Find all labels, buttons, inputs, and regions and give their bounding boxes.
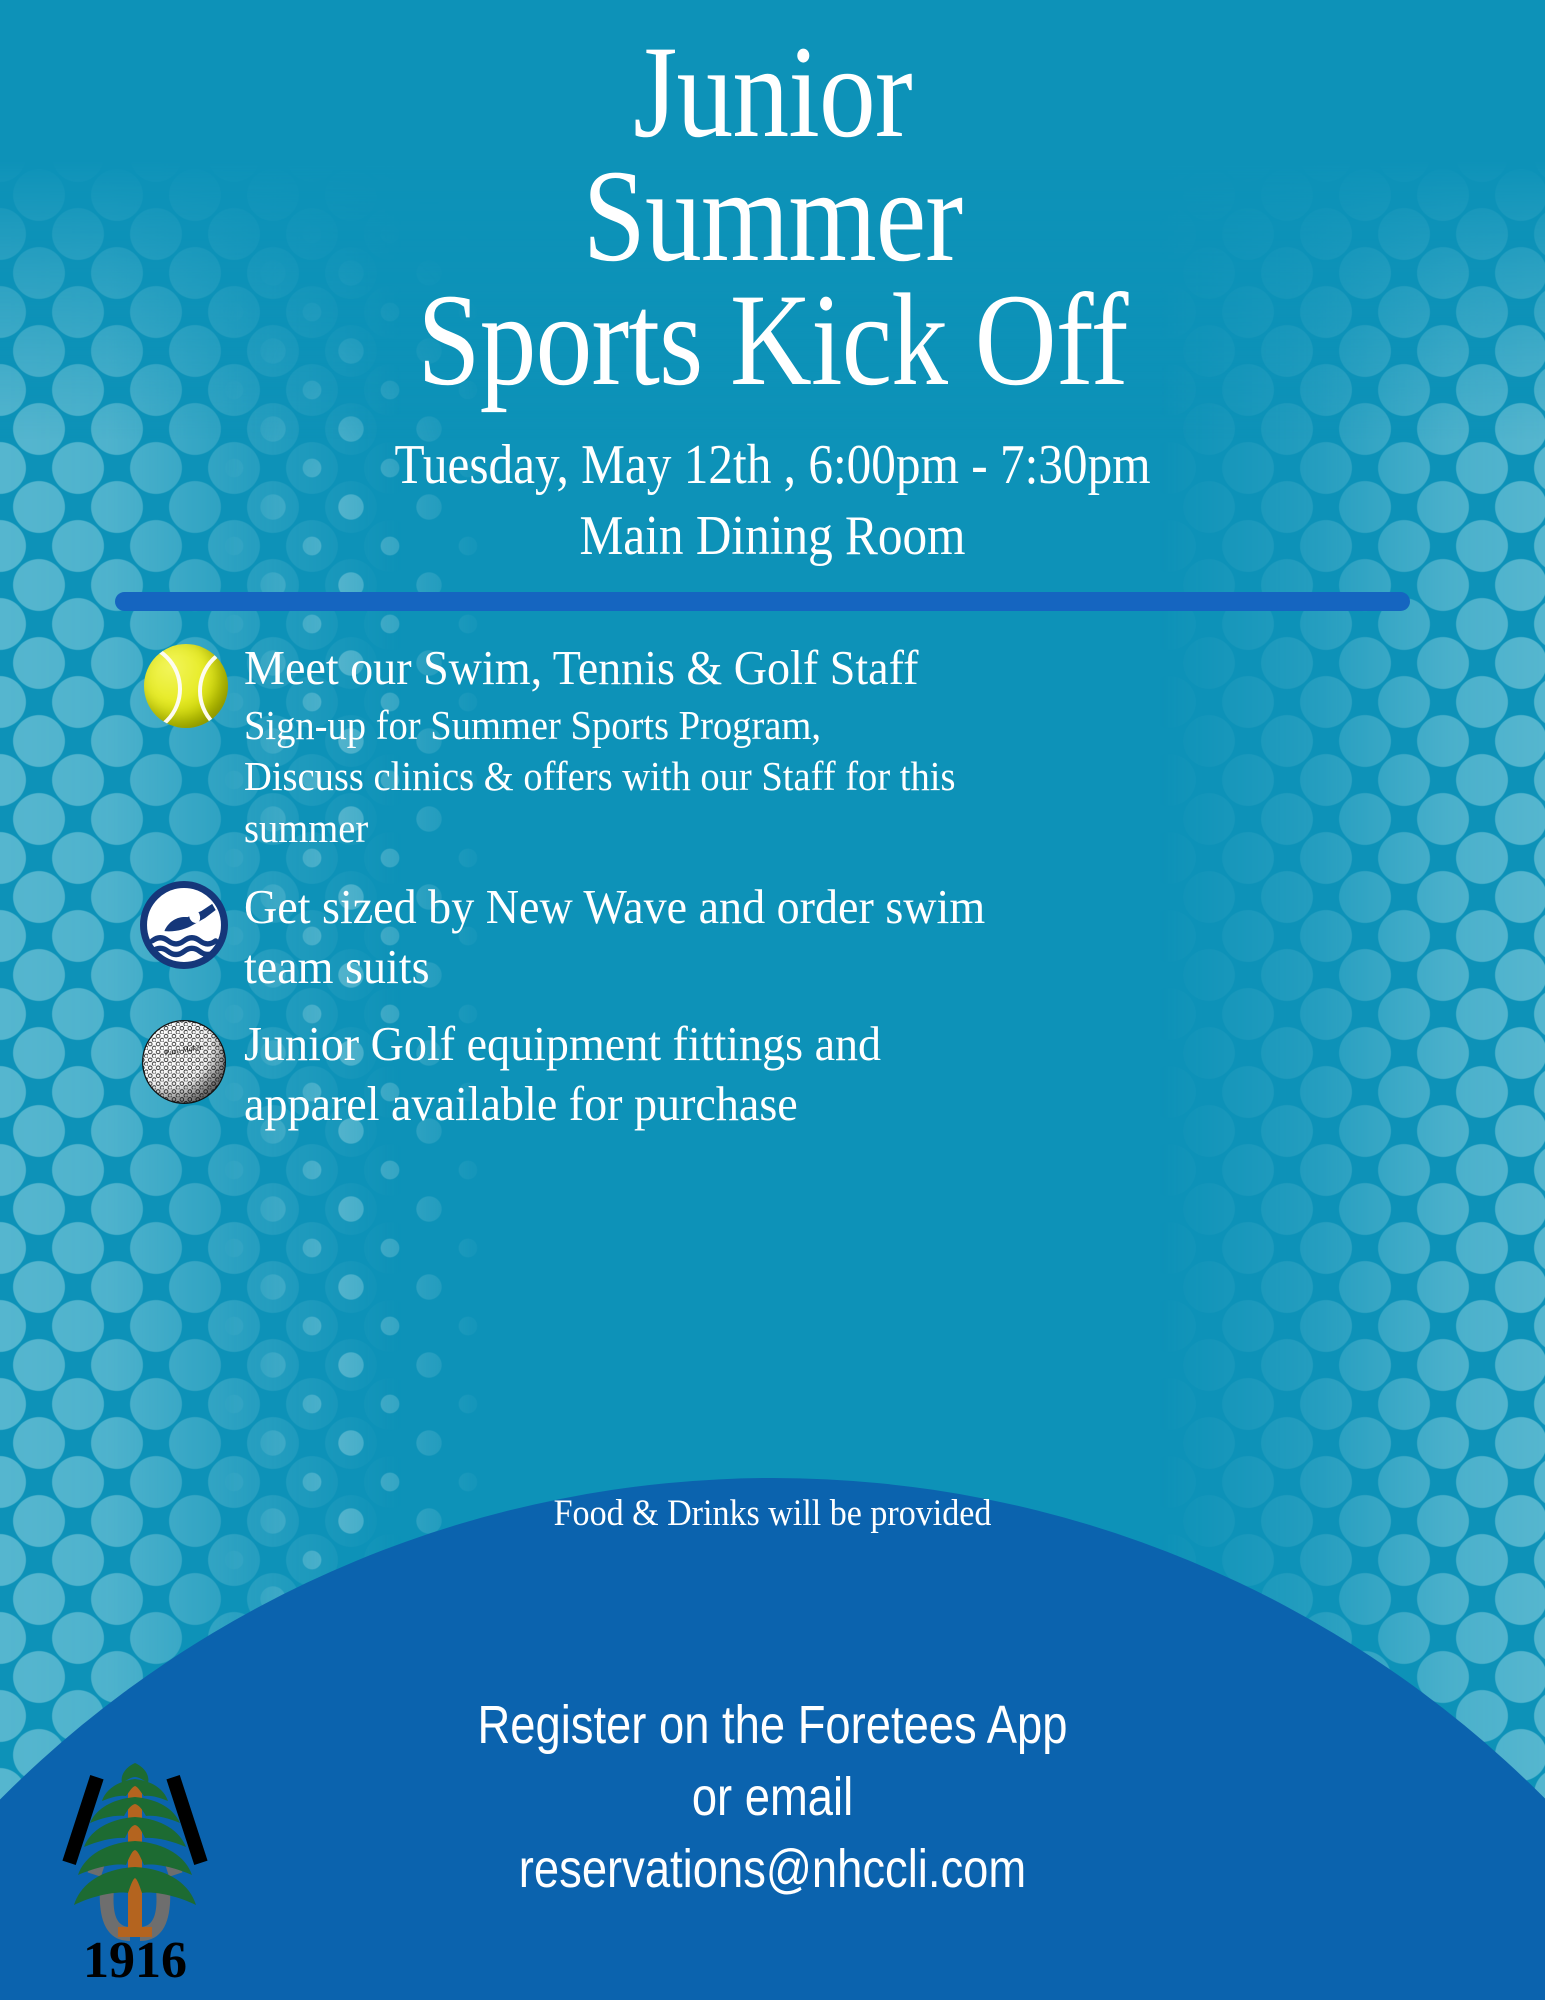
title-line-1: Junior — [108, 30, 1437, 154]
title-line-3: Sports Kick Off — [108, 278, 1437, 402]
bullet-sub-text: Sign-up for Summer Sports Program, Discu… — [244, 700, 1396, 855]
register-block: Register on the Foretees App or email re… — [124, 1690, 1422, 1905]
food-note: Food & Drinks will be provided — [62, 1492, 1483, 1535]
golf-ball-icon: Pace Maker — [140, 1018, 232, 1110]
logo-year: 1916 — [83, 1932, 187, 1980]
golf-ball-svg: Pace Maker — [140, 1018, 228, 1106]
event-subtitle: Tuesday, May 12th , 6:00pm - 7:30pm Main… — [93, 430, 1453, 571]
event-datetime: Tuesday, May 12th , 6:00pm - 7:30pm — [93, 430, 1453, 501]
title-line-2: Summer — [108, 154, 1437, 278]
club-crest-svg: 1916 — [40, 1745, 230, 1980]
event-location: Main Dining Room — [93, 501, 1453, 572]
bullet-main-text: Get sized by New Wave and order swim tea… — [244, 877, 1396, 997]
list-item: Meet our Swim, Tennis & Golf Staff Sign-… — [140, 638, 1470, 855]
register-email[interactable]: reservations@nhccli.com — [124, 1834, 1422, 1906]
divider-bar — [115, 592, 1410, 611]
list-item: Get sized by New Wave and order swim tea… — [140, 877, 1470, 997]
register-line-app: Register on the Foretees App — [124, 1690, 1422, 1762]
register-line-or: or email — [124, 1762, 1422, 1834]
flyer-canvas: Junior Summer Sports Kick Off Tuesday, M… — [0, 0, 1545, 2000]
swimmer-badge-icon — [140, 881, 232, 973]
club-crest-logo: 1916 — [40, 1745, 230, 1980]
page-title: Junior Summer Sports Kick Off — [108, 30, 1437, 402]
bullet-main-text: Meet our Swim, Tennis & Golf Staff — [244, 638, 1396, 698]
list-item: Pace Maker Junior Golf equipment fitting… — [140, 1014, 1470, 1134]
swimmer-badge-svg — [140, 881, 228, 969]
bullet-main-text: Junior Golf equipment fittings and appar… — [244, 1014, 1396, 1134]
bullet-list: Meet our Swim, Tennis & Golf Staff Sign-… — [140, 638, 1470, 1140]
tennis-ball-icon — [140, 642, 232, 734]
